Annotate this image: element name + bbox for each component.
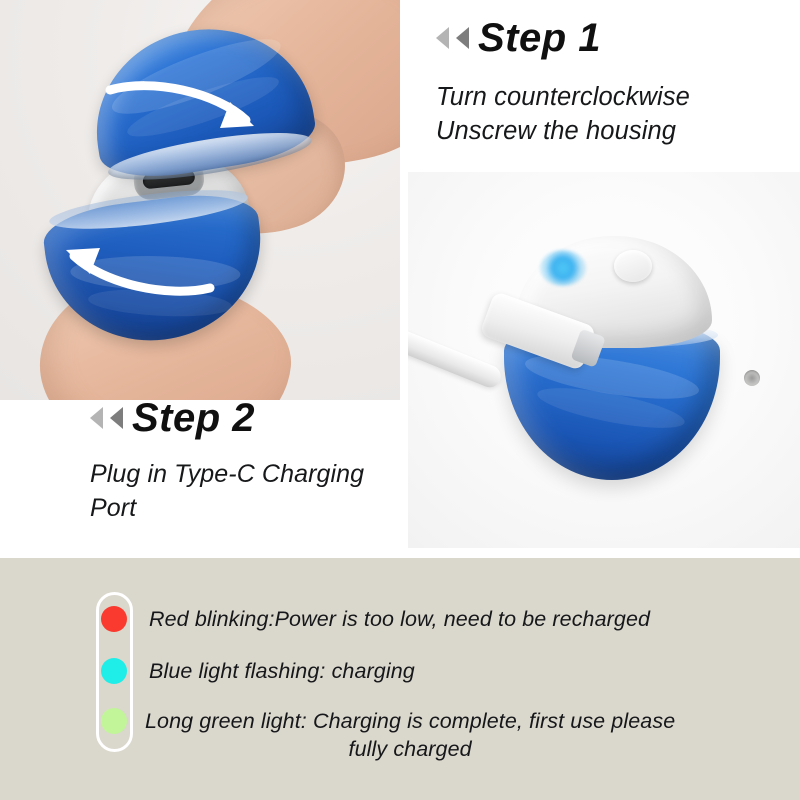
rotation-arrow-counterclockwise-icon	[56, 232, 216, 302]
steps-section: Step 1 Turn counterclockwise Unscrew the…	[0, 0, 800, 558]
legend-text-green: Long green light: Charging is complete, …	[145, 708, 675, 764]
ball-with-usb-c-cable-photo	[408, 172, 800, 548]
legend-text-blue: Blue light flashing: charging	[149, 658, 415, 686]
step-2-description: Plug in Type-C Charging Port	[90, 458, 410, 525]
left-triangle-inner-icon	[456, 27, 469, 49]
green-status-dot	[101, 708, 127, 734]
blue-led-indicator	[540, 250, 586, 286]
left-triangle-outer-icon	[436, 27, 449, 49]
infographic-page: Step 1 Turn counterclockwise Unscrew the…	[0, 0, 800, 800]
legend-item-red: Red blinking:Power is too low, need to b…	[96, 606, 650, 634]
red-status-dot	[101, 606, 127, 632]
power-button[interactable]	[614, 250, 652, 282]
rotation-arrow-clockwise-icon	[104, 76, 264, 146]
screw-icon	[744, 370, 760, 386]
blue-status-dot	[101, 658, 127, 684]
legend-item-green: Long green light: Charging is complete, …	[96, 708, 675, 764]
left-triangle-inner-icon	[110, 407, 123, 429]
step-1-heading: Step 1	[436, 18, 776, 58]
thumbnail-upper	[389, 0, 400, 57]
step-2-heading: Step 2	[90, 398, 410, 438]
step-2-block: Step 2 Plug in Type-C Charging Port	[90, 398, 410, 525]
step-1-block: Step 1 Turn counterclockwise Unscrew the…	[436, 18, 776, 148]
legend-item-blue: Blue light flashing: charging	[96, 658, 415, 686]
hands-unscrewing-blue-ball-photo	[0, 0, 400, 400]
legend-text-red: Red blinking:Power is too low, need to b…	[149, 606, 650, 634]
led-status-legend: Red blinking:Power is too low, need to b…	[0, 558, 800, 800]
step-2-title: Step 2	[132, 398, 255, 438]
step-1-description: Turn counterclockwise Unscrew the housin…	[436, 80, 776, 148]
step-1-title: Step 1	[478, 18, 601, 58]
left-triangle-outer-icon	[90, 407, 103, 429]
